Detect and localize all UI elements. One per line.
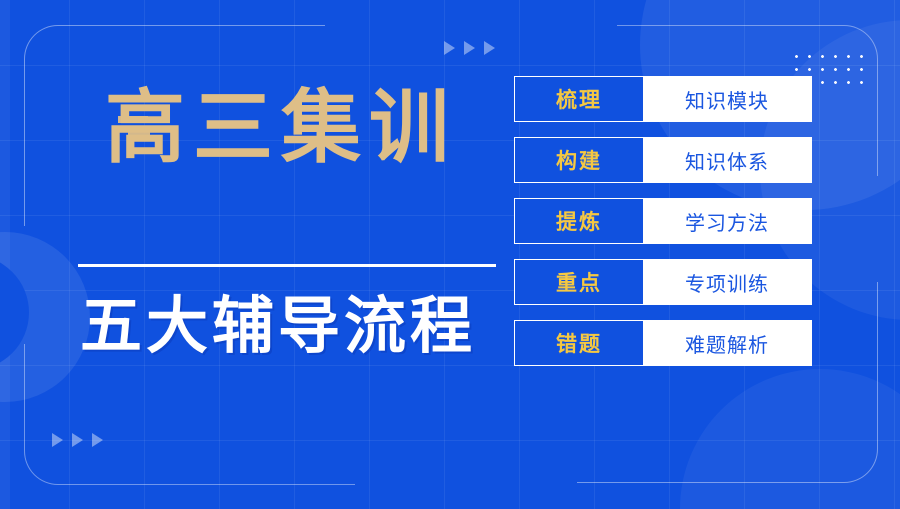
page-subtitle: 五大辅导流程 [80, 296, 476, 358]
list-item-value: 学习方法 [643, 199, 811, 243]
list-item[interactable]: 错题 难题解析 [514, 320, 812, 366]
poster-canvas: 高三集训 五大辅导流程 梳理 知识模块 构建 知识体系 提炼 学习方法 重点 专… [0, 0, 900, 509]
left-content: 高三集训 五大辅导流程 [0, 0, 500, 509]
list-item-key: 梳理 [515, 77, 643, 121]
title-divider [78, 264, 496, 267]
list-item[interactable]: 构建 知识体系 [514, 137, 812, 183]
list-item-key: 错题 [515, 321, 643, 365]
list-item-key: 重点 [515, 260, 643, 304]
list-item-value: 知识模块 [643, 77, 811, 121]
process-list: 梳理 知识模块 构建 知识体系 提炼 学习方法 重点 专项训练 错题 难题解析 [514, 76, 812, 366]
page-title: 高三集训 [105, 88, 457, 168]
list-item[interactable]: 提炼 学习方法 [514, 198, 812, 244]
list-item-value: 专项训练 [643, 260, 811, 304]
list-item-value: 难题解析 [643, 321, 811, 365]
list-item-key: 构建 [515, 138, 643, 182]
list-item[interactable]: 梳理 知识模块 [514, 76, 812, 122]
list-item[interactable]: 重点 专项训练 [514, 259, 812, 305]
list-item-value: 知识体系 [643, 138, 811, 182]
list-item-key: 提炼 [515, 199, 643, 243]
